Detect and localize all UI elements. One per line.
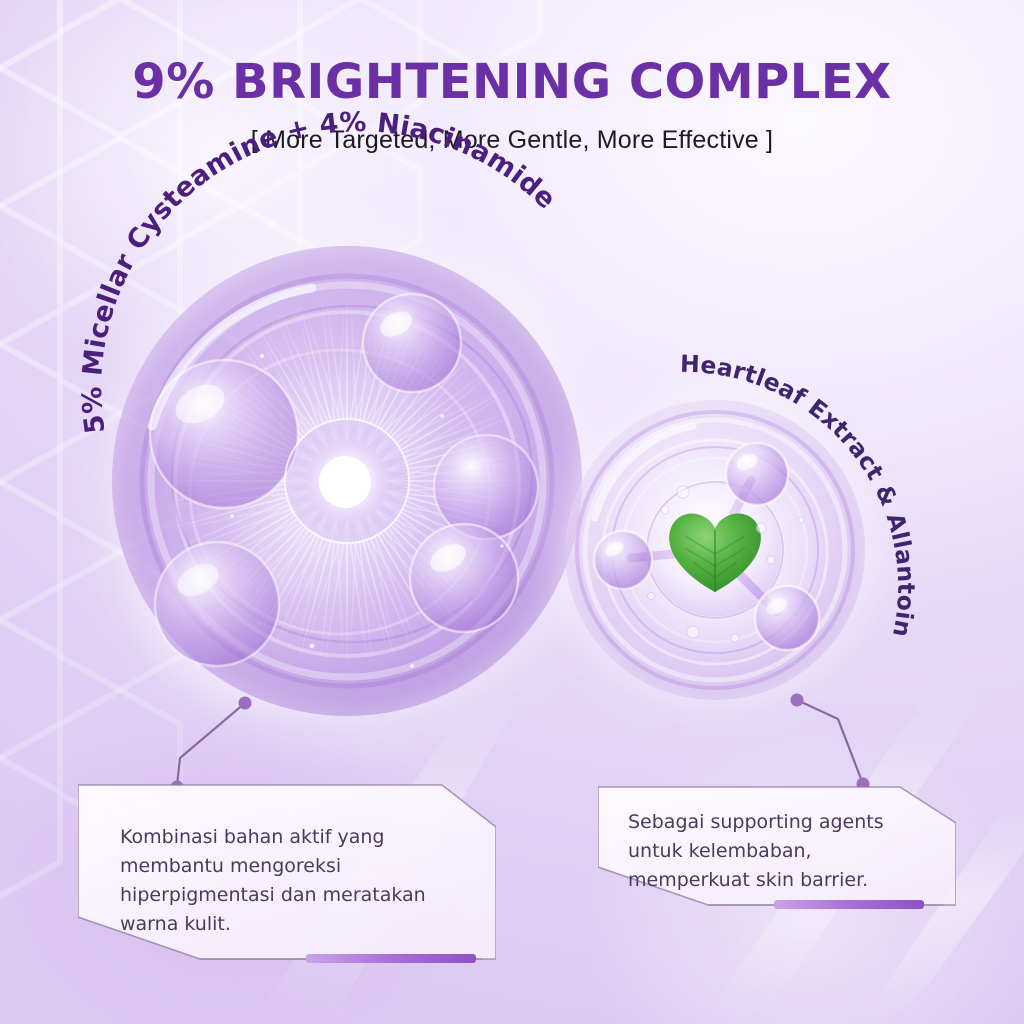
infographic-canvas: 9% BRIGHTENING COMPLEX [ More Targeted, …: [0, 0, 1024, 1024]
caption-card-cysteamine: Kombinasi bahan aktif yang membantu meng…: [78, 781, 496, 978]
caption-text-cysteamine: Kombinasi bahan aktif yang membantu meng…: [120, 823, 460, 939]
large-bubble-molecule-art: [112, 246, 582, 716]
small-bubble-heartleaf-art: [565, 400, 865, 700]
large-bubble: [112, 246, 582, 716]
page-title: 9% BRIGHTENING COMPLEX: [0, 54, 1024, 110]
small-bubble: [565, 400, 865, 700]
caption-text-heartleaf: Sebagai supporting agents untuk kelembab…: [628, 808, 938, 895]
page-subtitle: [ More Targeted, More Gentle, More Effec…: [0, 126, 1024, 155]
caption-card-heartleaf: Sebagai supporting agents untuk kelembab…: [598, 771, 956, 920]
